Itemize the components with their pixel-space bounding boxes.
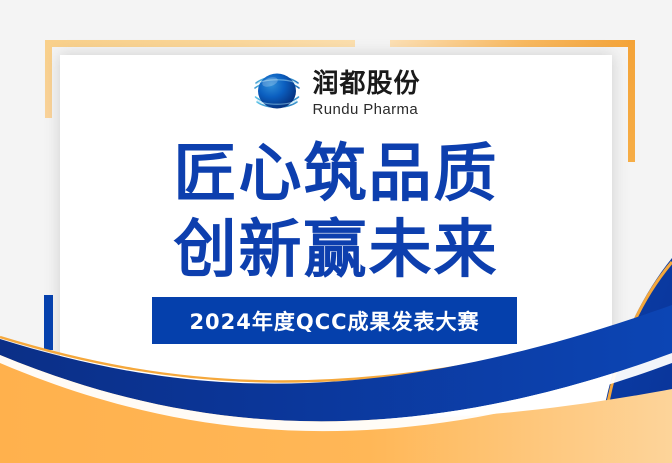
poster-canvas: 润都股份 Rundu Pharma 匠心筑品质 创新赢未来 2024年度QCC成…	[0, 0, 672, 463]
headline-block: 匠心筑品质 创新赢未来	[0, 136, 672, 288]
bottom-wave-decoration	[0, 293, 672, 463]
corner-bracket-top-right-horizontal	[390, 40, 635, 47]
corner-bracket-top-left-horizontal	[45, 40, 355, 47]
brand-logo-wordmark: 润都股份 Rundu Pharma	[312, 71, 420, 117]
rundu-globe-icon	[251, 66, 303, 121]
brand-logo: 润都股份 Rundu Pharma	[0, 66, 672, 121]
headline-line-2: 创新赢未来	[0, 212, 672, 288]
brand-name-en: Rundu Pharma	[312, 102, 418, 117]
brand-name-cn: 润都股份	[312, 71, 420, 97]
headline-line-1: 匠心筑品质	[0, 136, 672, 212]
